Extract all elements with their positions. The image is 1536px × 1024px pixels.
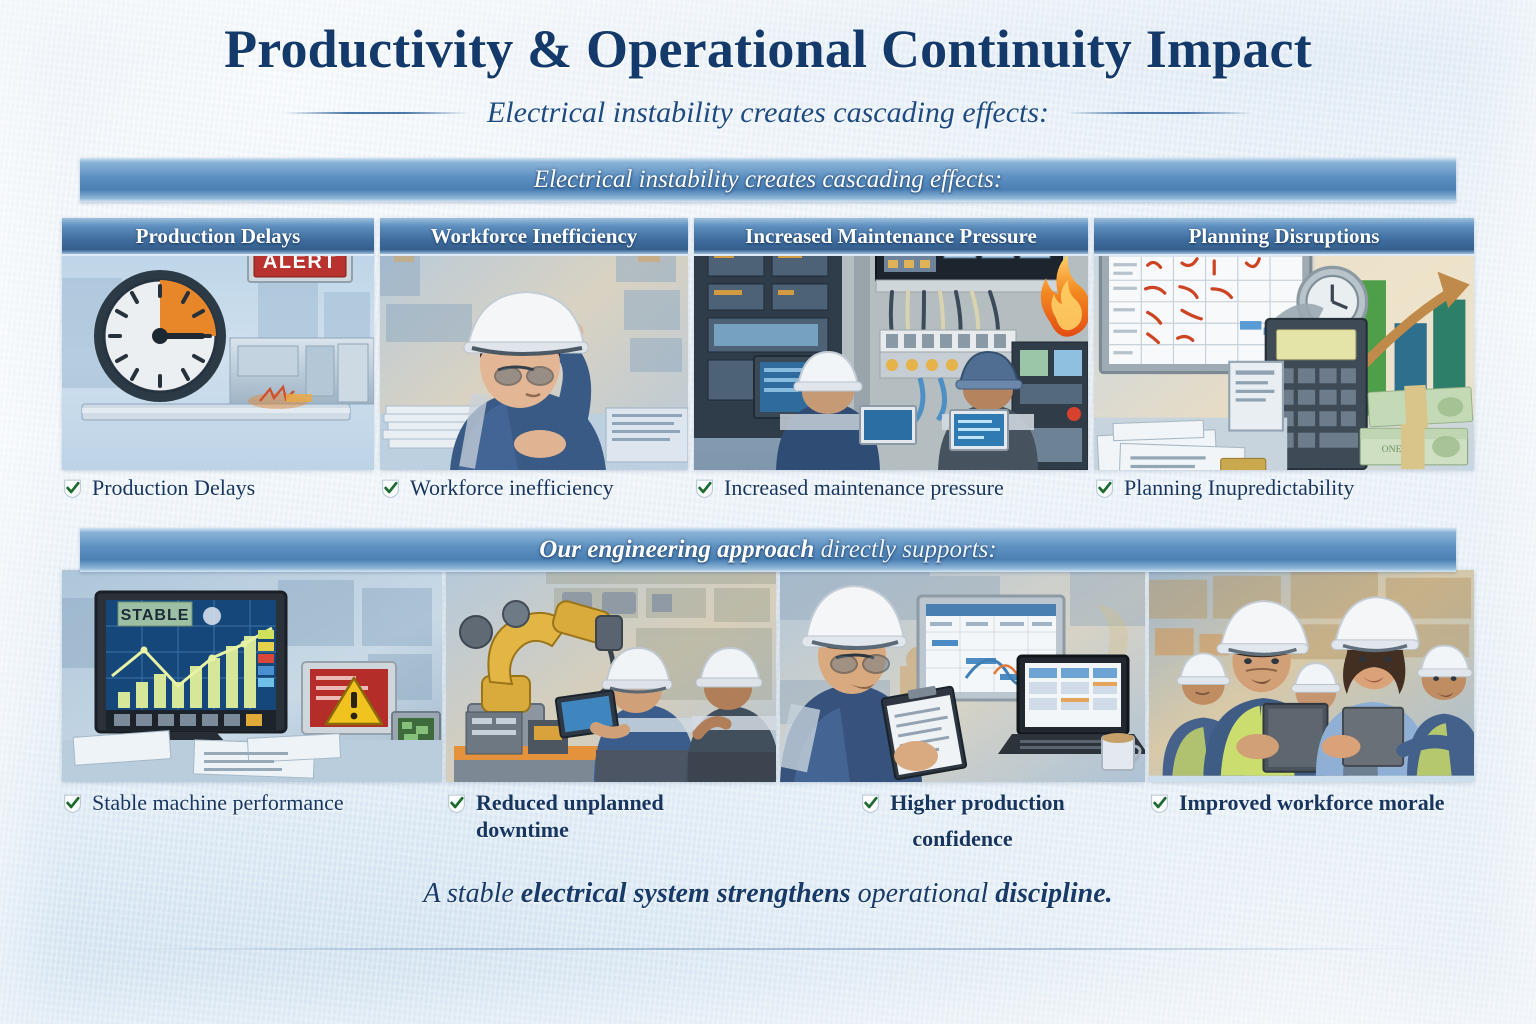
caption-text: Planning Inupredictability (1124, 475, 1354, 502)
green-check-icon (62, 792, 83, 814)
supervisor-laptop-icon (780, 570, 1145, 782)
benefits-band-text: Our engineering approach directly suppor… (539, 536, 996, 564)
caption-line-1: Reduced unplanned (476, 790, 664, 817)
monitor-chart-icon: STABLE (62, 570, 442, 782)
tagline-bold-1: electrical system strengthens (521, 878, 851, 909)
benefit-panel-reduced-downtime[interactable] (446, 570, 776, 782)
page-title: Productivity & Operational Continuity Im… (0, 18, 1536, 80)
green-check-icon (1094, 477, 1115, 499)
green-check-icon (62, 477, 83, 499)
svg-text:STABLE: STABLE (121, 607, 190, 624)
panel-header: Production Delays (62, 218, 374, 256)
caption-line-2: downtime (476, 817, 664, 844)
caption-text: Workforce inefficiency (410, 475, 614, 502)
panel-header: Increased Maintenance Pressure (694, 218, 1088, 256)
problems-band-text: Electrical instability creates cascading… (534, 166, 1002, 194)
problems-captions: Production Delays Workforce inefficiency… (62, 473, 1474, 507)
panel-header: Planning Disruptions (1094, 218, 1474, 256)
page-subtitle: Electrical instability creates cascading… (487, 96, 1049, 130)
caption-line-1: Higher production (890, 790, 1065, 817)
green-check-icon (446, 792, 467, 814)
svg-text:ONE: ONE (1382, 444, 1402, 455)
caption-line-1-row: Higher production (860, 790, 1065, 817)
caption-text: Increased maintenance pressure (724, 475, 1004, 502)
caption-item: Workforce inefficiency (380, 473, 688, 507)
rule-left (284, 112, 469, 114)
caption-text: Stable machine performance (92, 790, 344, 817)
infographic-poster: Productivity & Operational Continuity Im… (0, 0, 1536, 1024)
tagline-bold-2: discipline. (995, 878, 1112, 909)
tagline-part-1: A stable (423, 878, 520, 909)
caption-text: Production Delays (92, 475, 255, 502)
green-check-icon (380, 477, 401, 499)
robot-arm-icon (446, 570, 776, 782)
problems-band: Electrical instability creates cascading… (80, 158, 1456, 202)
caption-item: Planning Inupredictability (1094, 473, 1474, 507)
benefit-panel-production-confidence[interactable] (780, 570, 1145, 782)
green-check-icon (1149, 792, 1170, 814)
benefits-captions: Stable machine performance Reduced unpla… (62, 788, 1474, 858)
panel-header: Workforce Inefficiency (380, 218, 688, 256)
caption-item: Improved workforce morale (1149, 788, 1474, 858)
caption-item: Increased maintenance pressure (694, 473, 1088, 507)
problem-panel-planning-disruptions[interactable]: ONE Planning Disruptions (1094, 218, 1474, 470)
benefit-panel-stable-performance[interactable]: STABLE (62, 570, 442, 782)
rule-right (1067, 112, 1252, 114)
benefits-row: STABLE (62, 570, 1474, 782)
caption-item: Stable machine performance (62, 788, 442, 858)
caption-line-2: confidence (912, 826, 1012, 853)
green-check-icon (694, 477, 715, 499)
problem-panel-maintenance-pressure[interactable]: Increased Maintenance Pressure (694, 218, 1088, 470)
caption-item: Higher production confidence (780, 788, 1145, 858)
footer-divider (120, 948, 1416, 950)
benefit-panel-workforce-morale[interactable] (1149, 570, 1474, 782)
tagline: A stable electrical system strengthens o… (0, 878, 1536, 910)
benefits-band-bold: Our engineering approach (539, 536, 814, 563)
problems-row: ALERT Production Delays (62, 218, 1474, 470)
benefits-band: Our engineering approach directly suppor… (80, 528, 1456, 572)
tagline-part-2: operational (851, 878, 996, 909)
caption-item: Production Delays (62, 473, 374, 507)
caption-item: Reduced unplanned downtime (446, 788, 776, 858)
problem-panel-production-delays[interactable]: ALERT Production Delays (62, 218, 374, 470)
green-check-icon (860, 792, 881, 814)
caption-text: Improved workforce morale (1179, 790, 1445, 817)
subtitle-row: Electrical instability creates cascading… (0, 96, 1536, 130)
caption-text: Reduced unplanned downtime (476, 790, 664, 844)
benefits-band-light: directly supports: (814, 536, 996, 563)
problem-panel-workforce-inefficiency[interactable]: Workforce Inefficiency (380, 218, 688, 470)
team-morale-icon (1149, 570, 1474, 776)
